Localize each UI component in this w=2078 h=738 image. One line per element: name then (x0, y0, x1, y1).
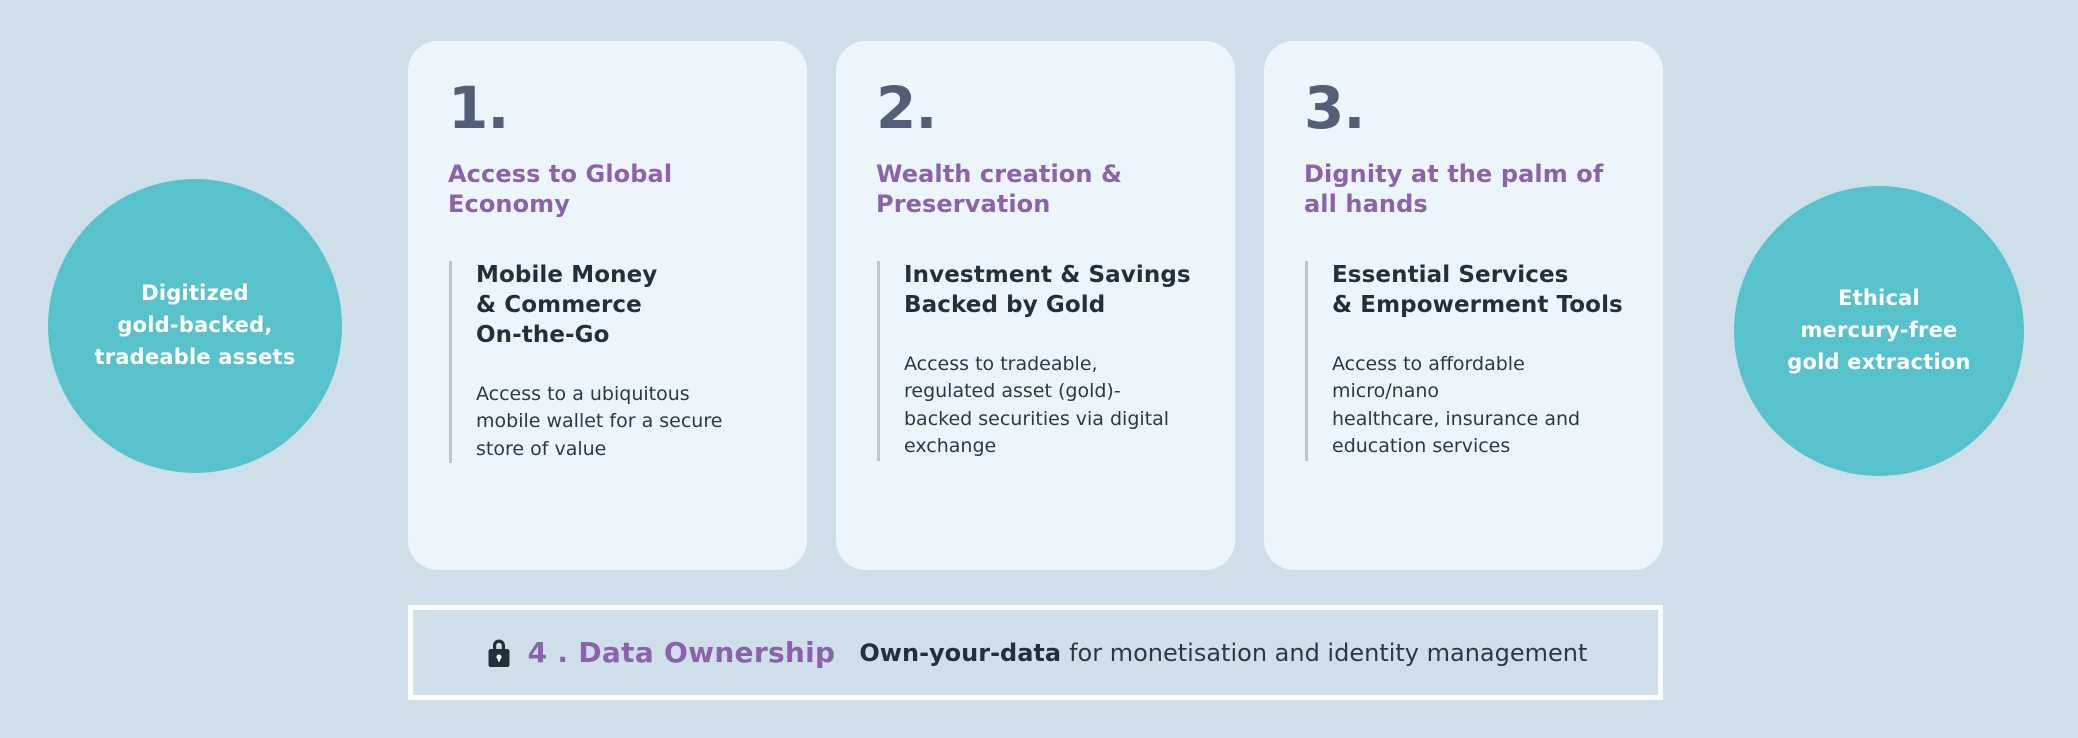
card-description: Access to affordable micro/nano healthca… (1332, 351, 1623, 461)
card-title: Dignity at the palm of all hands (1304, 159, 1623, 219)
banner-content: 4 . Data Ownership Own-your-data for mon… (484, 636, 1588, 670)
left-circle-badge: Digitized gold-backed, tradeable assets (48, 179, 342, 473)
card-number: 3. (1304, 79, 1623, 137)
card-description: Access to a ubiquitous mobile wallet for… (476, 381, 767, 464)
card-subtitle: Mobile Money & Commerce On-the-Go (476, 261, 767, 351)
banner-strong-text: Own-your-data (859, 639, 1061, 667)
card-title: Access to Global Economy (448, 159, 767, 219)
lock-icon (484, 636, 514, 670)
card-body: Mobile Money & Commerce On-the-Go Access… (449, 261, 767, 463)
card-wealth-creation-preservation[interactable]: 2. Wealth creation & Preservation Invest… (836, 41, 1235, 570)
card-title: Wealth creation & Preservation (876, 159, 1195, 219)
card-body: Investment & Savings Backed by Gold Acce… (877, 261, 1195, 461)
right-circle-badge: Ethical mercury-free gold extraction (1734, 186, 2024, 476)
infographic-canvas: Digitized gold-backed, tradeable assets … (0, 0, 2078, 738)
card-access-to-global-economy[interactable]: 1. Access to Global Economy Mobile Money… (408, 41, 807, 570)
left-circle-text: Digitized gold-backed, tradeable assets (81, 278, 310, 374)
cards-row: 1. Access to Global Economy Mobile Money… (408, 41, 1663, 570)
card-description: Access to tradeable, regulated asset (go… (904, 351, 1195, 461)
right-circle-text: Ethical mercury-free gold extraction (1773, 283, 1984, 379)
card-dignity-at-the-palm-of-all-hands[interactable]: 3. Dignity at the palm of all hands Esse… (1264, 41, 1663, 570)
banner-step-label: 4 . Data Ownership (528, 636, 836, 669)
card-subtitle: Essential Services & Empowerment Tools (1332, 261, 1623, 321)
card-subtitle: Investment & Savings Backed by Gold (904, 261, 1195, 321)
banner-rest-text: for monetisation and identity management (1069, 639, 1587, 667)
data-ownership-banner[interactable]: 4 . Data Ownership Own-your-data for mon… (408, 605, 1663, 700)
card-number: 1. (448, 79, 767, 137)
card-body: Essential Services & Empowerment Tools A… (1305, 261, 1623, 461)
card-number: 2. (876, 79, 1195, 137)
